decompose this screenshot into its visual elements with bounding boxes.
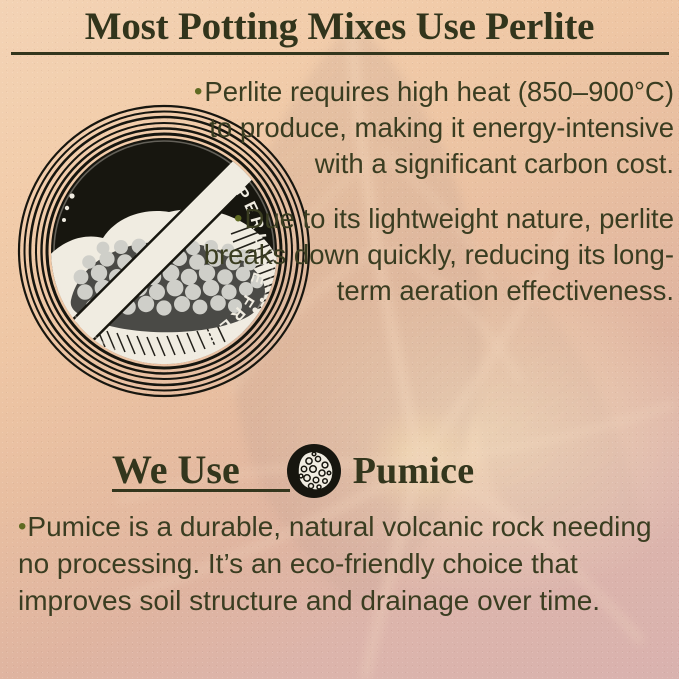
list-item: •Perlite requires high heat (850–900°C) … <box>186 74 674 181</box>
perlite-drawbacks-list: •Perlite requires high heat (850–900°C) … <box>186 74 674 309</box>
bullet-text: Due to its lightweight nature, perlite b… <box>204 203 674 306</box>
list-item: •Due to its lightweight nature, perlite … <box>186 201 674 308</box>
bullet-dot-icon: • <box>234 205 242 232</box>
bullet-dot-icon: • <box>194 78 202 105</box>
pumice-benefits-paragraph: •Pumice is a durable, natural volcanic r… <box>18 508 664 620</box>
headline-container: Most Potting Mixes Use Perlite <box>0 6 679 47</box>
pumice-rock-icon <box>286 443 342 499</box>
we-use-underline-rule <box>112 489 290 492</box>
we-use-label: We Use <box>112 450 240 492</box>
headline-underline-rule <box>11 52 669 55</box>
bullet-dot-icon: • <box>18 513 26 540</box>
pumice-label: Pumice <box>353 449 475 493</box>
bullet-text: Perlite requires high heat (850–900°C) t… <box>204 76 674 179</box>
page-title: Most Potting Mixes Use Perlite <box>0 6 679 47</box>
infographic-card: Most Potting Mixes Use Perlite <box>0 0 679 679</box>
bullet-text: Pumice is a durable, natural volcanic ro… <box>18 511 652 616</box>
